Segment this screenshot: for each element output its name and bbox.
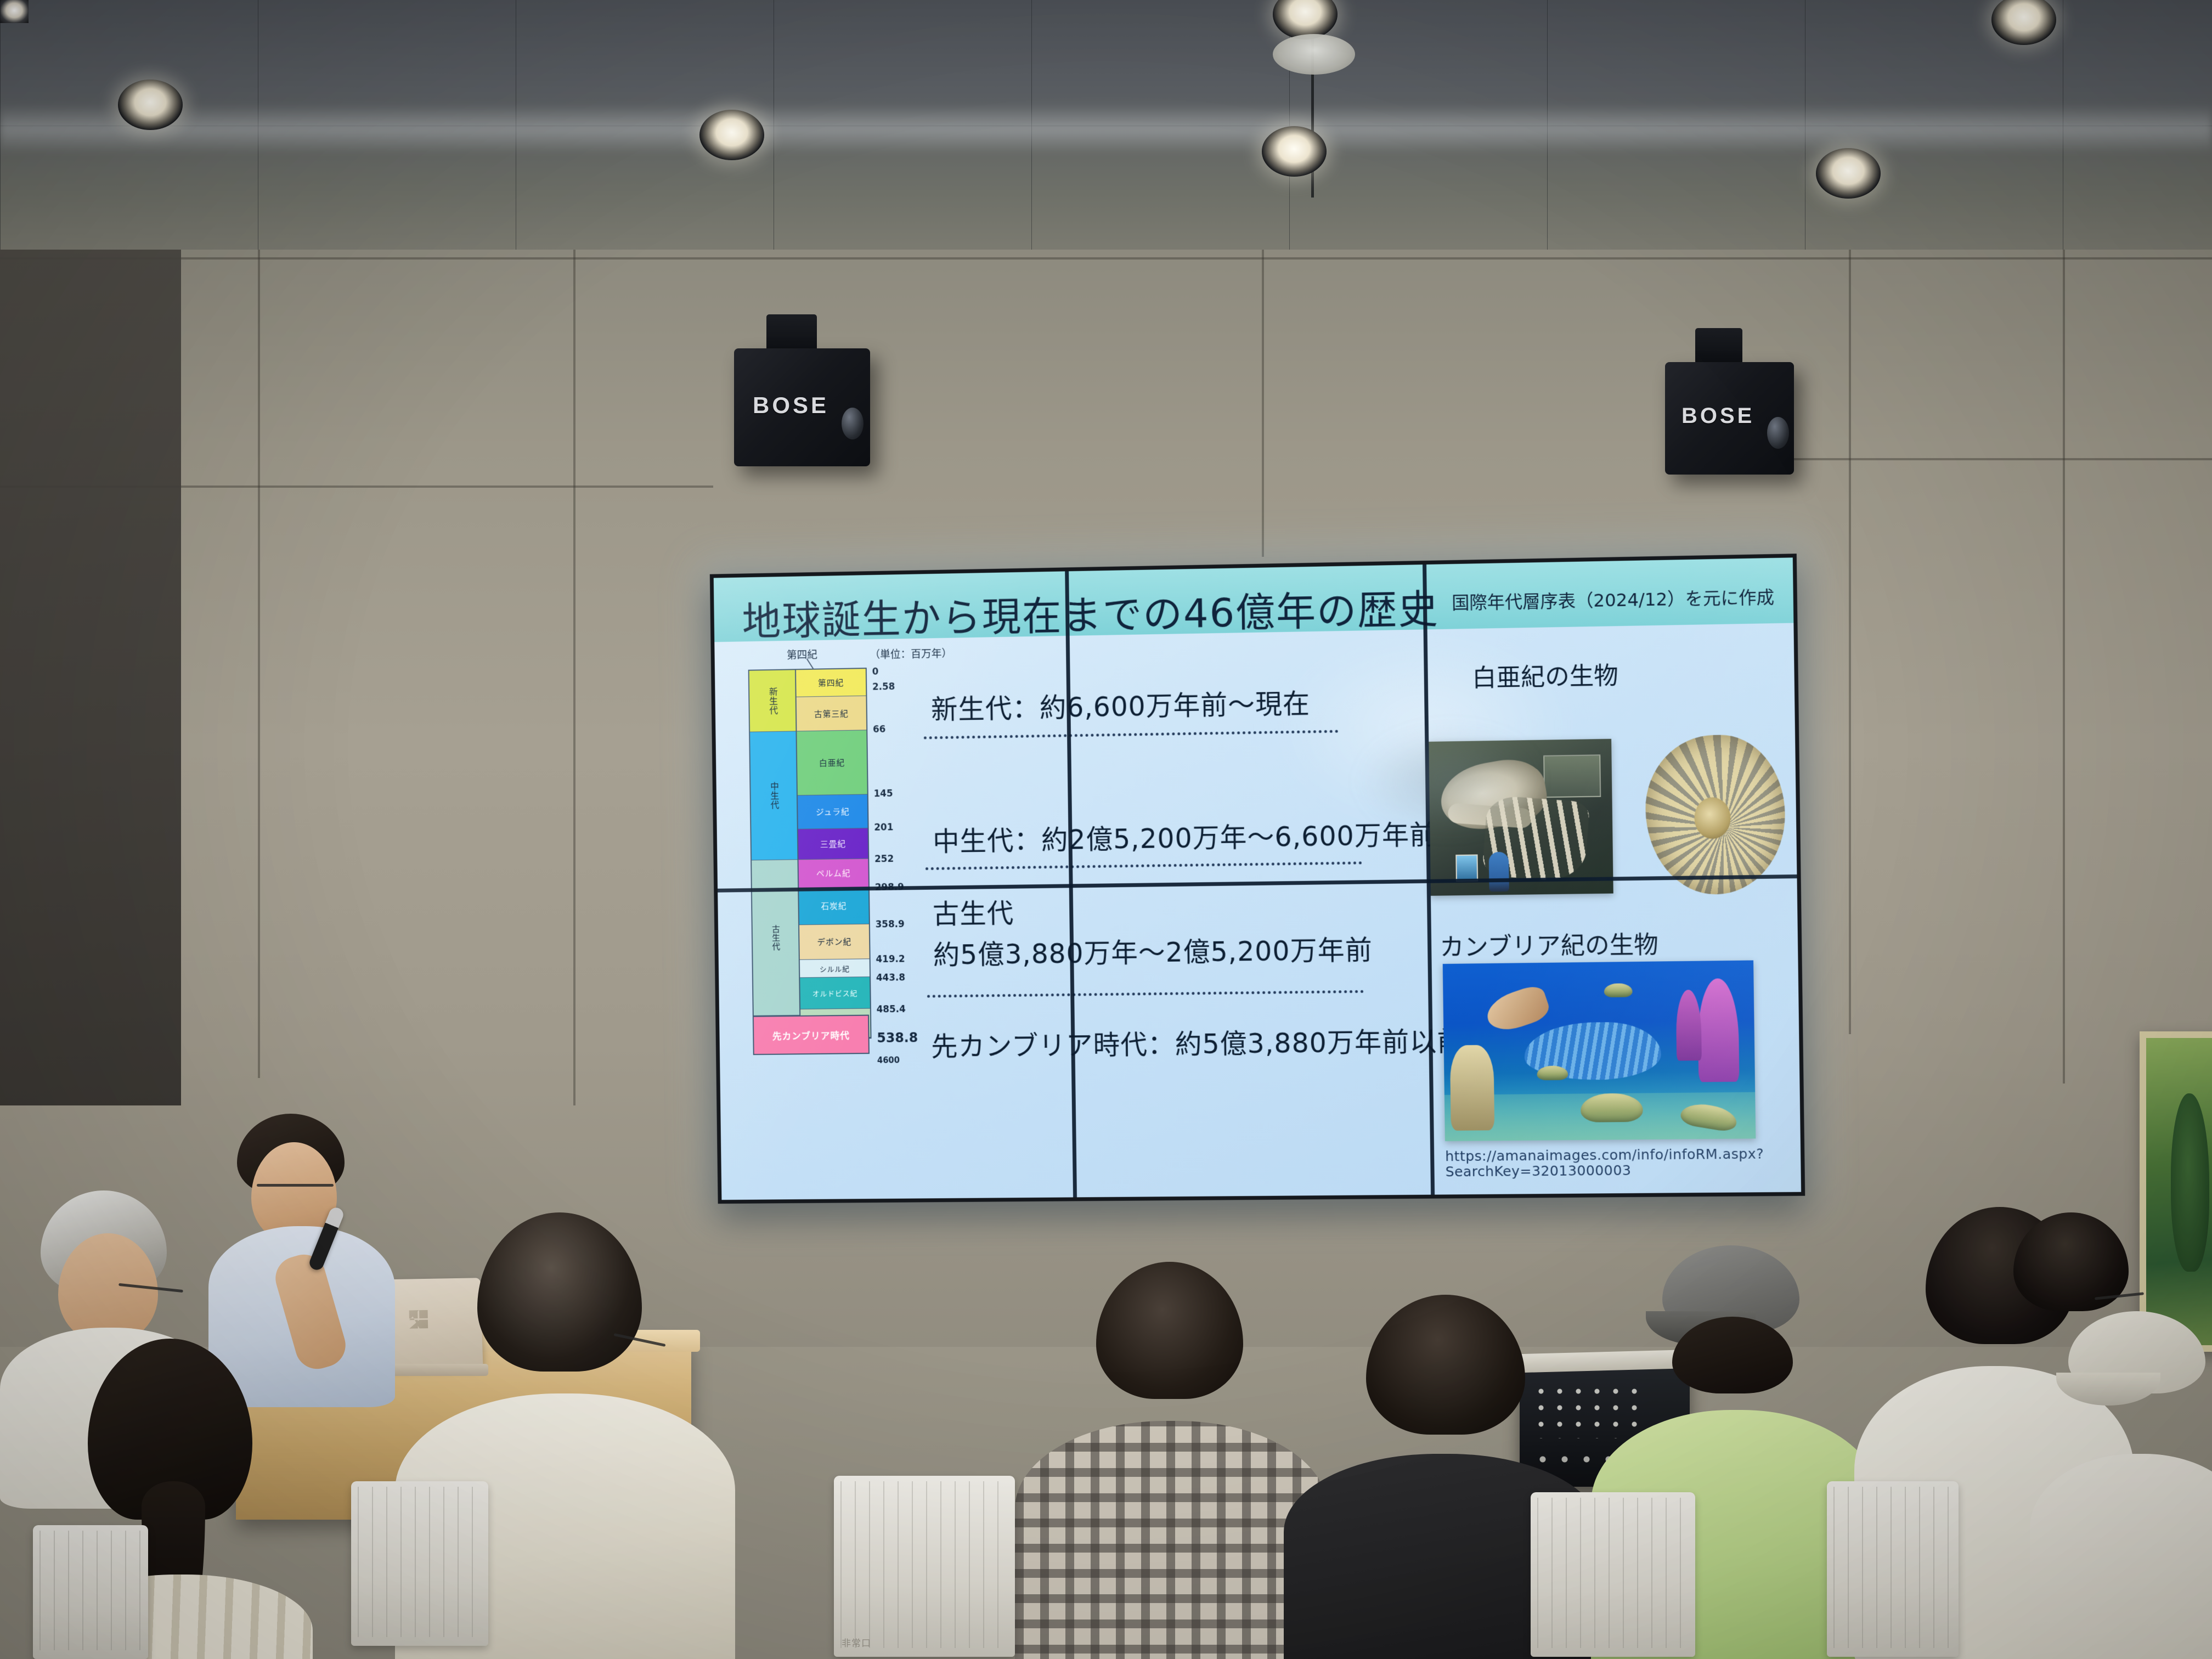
geo-columns: 新生代 中生代 古生代 第四紀 xyxy=(748,668,872,1040)
slide-title: 地球誕生から現在までの46億年の歴史 xyxy=(742,577,1440,647)
coral xyxy=(1697,978,1739,1082)
wall-seam xyxy=(1783,458,2212,460)
era-row-precambrian: 先カンブリア時代：約5億3,880万年前以前 xyxy=(931,1020,1465,1064)
axis-tick: 538.8 xyxy=(877,1030,918,1046)
axis-tick: 66 xyxy=(873,724,886,735)
era-label: 中生代 xyxy=(769,782,778,810)
downlight-icon xyxy=(1816,148,1881,199)
chair[interactable]: 非常口 xyxy=(834,1476,1015,1657)
small-fauna xyxy=(1537,1065,1568,1080)
ammonite-core xyxy=(1694,797,1731,839)
audience-member xyxy=(1026,1262,1311,1659)
period-cell-ordovician: オルドビス紀 xyxy=(800,977,870,1009)
period-label: 古第三紀 xyxy=(814,708,849,720)
arthropod xyxy=(1482,983,1553,1036)
unit-header: （単位：百万年） xyxy=(870,646,952,662)
wall-seam xyxy=(2063,250,2065,1084)
coral xyxy=(1676,990,1702,1061)
era-cell-mesozoic: 中生代 xyxy=(750,731,798,860)
panel-title-cambrian: カンブリア紀の生物 xyxy=(1440,925,1658,963)
ammonite-fossil-photo xyxy=(1645,734,1786,895)
era-label: 古生代 xyxy=(771,924,780,951)
era-cell-cenozoic: 新生代 xyxy=(749,670,796,732)
period-column: 第四紀 古第三紀 白亜紀 ジュラ紀 三畳紀 xyxy=(795,669,870,1038)
wall-seam xyxy=(258,250,260,1078)
display-monitor xyxy=(1455,854,1478,882)
visitor xyxy=(1488,851,1509,892)
panel-title-cretaceous: 白亜紀の生物 xyxy=(1472,656,1618,694)
axis-tick: 443.8 xyxy=(876,972,905,983)
period-cell-carboniferous: 石炭紀 xyxy=(799,887,869,925)
tree xyxy=(2171,1093,2209,1272)
axis-tick: 145 xyxy=(873,788,893,799)
era-row-text-2: 約5億3,880万年～2億5,200万年前 xyxy=(933,928,1373,972)
period-label: 白亜紀 xyxy=(819,757,845,769)
ceiling-vent xyxy=(1273,34,1355,75)
cambrian-sea-illustration xyxy=(1443,960,1756,1141)
period-cell-silurian: シルル紀 xyxy=(800,959,870,978)
axis-tick: 2.58 xyxy=(872,681,895,693)
period-label: 第四紀 xyxy=(818,677,844,689)
bose-speaker: BOSE xyxy=(1665,362,1794,475)
wall-seam xyxy=(1262,250,1264,557)
precambrian-band: 先カンブリア時代 xyxy=(753,1015,870,1056)
bose-speaker: BOSE xyxy=(734,348,870,466)
image-credit-url: https://amanaimages.com/info/infoRM.aspx… xyxy=(1445,1147,1684,1180)
torso xyxy=(1015,1421,1328,1659)
period-label: 三畳紀 xyxy=(820,838,846,849)
divider-mesozoic xyxy=(926,861,1362,870)
chair-slats xyxy=(1833,1487,1952,1648)
period-label: 石炭紀 xyxy=(821,900,847,912)
chair-slats xyxy=(1537,1498,1689,1648)
museum-board xyxy=(1543,754,1601,798)
audience-member xyxy=(1986,1212,2151,1443)
era-row-cenozoic: 新生代：約6,600万年前～現在 xyxy=(931,682,1311,727)
presentation-screen[interactable]: 地球誕生から現在までの46億年の歴史 国際年代層序表（2024/12）を元に作成… xyxy=(710,554,1805,1204)
bose-logo: BOSE xyxy=(753,392,829,419)
era-column: 新生代 中生代 古生代 xyxy=(749,670,800,1039)
axis-tick: 419.2 xyxy=(876,954,905,965)
axis-tick: 201 xyxy=(874,822,893,833)
chair[interactable] xyxy=(351,1481,488,1646)
axis-tick: 252 xyxy=(874,854,894,865)
chair-slats xyxy=(840,1481,1008,1648)
hair xyxy=(1366,1295,1525,1435)
geologic-time-column: （単位：百万年） 第四紀 新生代 中生代 古生代 xyxy=(748,668,872,1040)
axis-tick: 0 xyxy=(872,667,879,678)
period-cell-devonian: デボン紀 xyxy=(799,924,869,960)
period-cell-triassic: 三畳紀 xyxy=(798,828,868,860)
speaker-bracket xyxy=(1695,328,1742,364)
ceiling-sheen xyxy=(0,104,2212,154)
slide: 地球誕生から現在までの46億年の歴史 国際年代層序表（2024/12）を元に作成… xyxy=(714,557,1801,1200)
chair-label: 非常口 xyxy=(842,1635,871,1649)
left-dark-wall-panel xyxy=(0,250,181,1105)
axis-tick: 485.4 xyxy=(877,1004,906,1015)
speaker-knob xyxy=(1767,417,1789,449)
era-row-mesozoic: 中生代：約2億5,200万年～6,600万年前 xyxy=(933,813,1437,859)
chair[interactable] xyxy=(1531,1492,1695,1657)
downlight-icon xyxy=(1262,126,1327,177)
period-cell-jurassic: ジュラ紀 xyxy=(798,794,867,829)
divider-paleozoic xyxy=(927,990,1364,998)
era-label: 新生代 xyxy=(768,687,777,715)
chair-slats xyxy=(39,1531,142,1650)
axis-tick: 4600 xyxy=(877,1055,900,1065)
time-axis: 0 2.58 66 145 201 252 298.9 358.9 419.2 … xyxy=(872,666,953,668)
period-label: シルル紀 xyxy=(820,963,850,973)
speaker-knob xyxy=(842,408,864,439)
chair[interactable] xyxy=(1827,1481,1959,1657)
era-row-text: 中生代：約2億5,200万年～6,600万年前 xyxy=(933,813,1437,859)
glasses-icon xyxy=(257,1184,334,1187)
period-label: デボン紀 xyxy=(817,936,851,948)
wall-seam xyxy=(0,257,2212,259)
hair xyxy=(477,1212,642,1372)
chair[interactable] xyxy=(33,1525,148,1659)
ceiling xyxy=(0,0,2212,258)
era-cell-paleozoic: 古生代 xyxy=(752,860,799,1015)
axis-tick: 358.9 xyxy=(876,919,905,930)
downlight-icon xyxy=(118,80,183,130)
period-cell-cretaceous: 白亜紀 xyxy=(797,730,867,795)
downlight-icon xyxy=(699,110,764,160)
wall-seam xyxy=(1849,250,1851,1034)
period-label: オルドビス紀 xyxy=(812,988,858,998)
wall-seam xyxy=(573,250,575,1105)
era-row-text: 新生代：約6,600万年前～現在 xyxy=(931,682,1311,727)
small-fauna xyxy=(1604,983,1632,997)
period-label: ジュラ紀 xyxy=(816,806,850,818)
era-row-text: 先カンブリア時代：約5億3,880万年前以前 xyxy=(931,1020,1465,1064)
period-cell-permian: ペルム紀 xyxy=(799,859,868,888)
period-cell-paleogene: 古第三紀 xyxy=(797,696,866,732)
sponge xyxy=(1450,1045,1494,1131)
precambrian-label: 先カンブリア時代 xyxy=(772,1028,850,1042)
torso xyxy=(2030,1454,2212,1659)
era-row-paleozoic: 古生代 約5億3,880万年～2億5,200万年前 xyxy=(932,887,1373,973)
bose-logo: BOSE xyxy=(1681,404,1754,428)
chair-slats xyxy=(358,1487,482,1637)
lecture-hall-photo: BOSE BOSE 地球誕生から現在までの46億年の歴史 国際年代層序表（202… xyxy=(0,0,2212,1659)
era-row-text: 古生代 xyxy=(932,887,1372,932)
period-label: ペルム紀 xyxy=(816,867,851,879)
trilobite xyxy=(1581,1093,1643,1122)
hair xyxy=(1096,1262,1243,1399)
period-cell-quaternary: 第四紀 xyxy=(796,669,866,697)
